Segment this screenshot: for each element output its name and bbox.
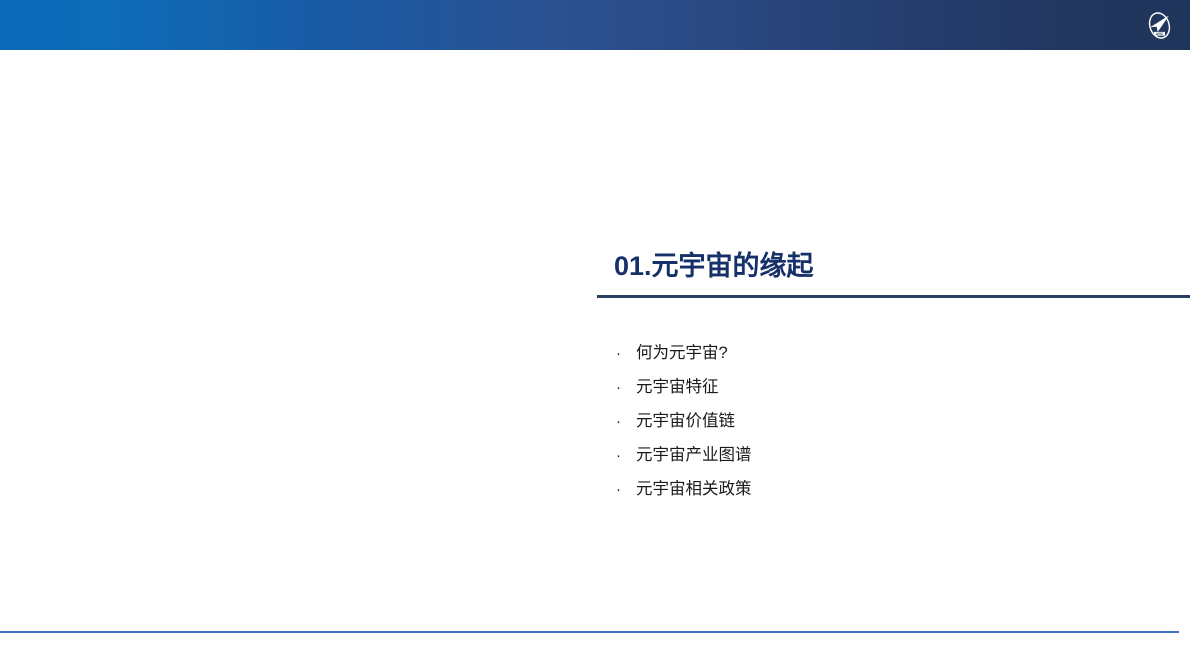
footer-divider: [0, 631, 1179, 633]
list-item-label: 元宇宙产业图谱: [636, 438, 752, 472]
title-block: 01.元宇宙的缘起: [597, 248, 1190, 284]
list-item-label: 元宇宙价值链: [636, 404, 735, 438]
list-item[interactable]: · 元宇宙相关政策: [616, 472, 752, 506]
header-band: AVIC: [0, 0, 1190, 50]
list-item-label: 元宇宙特征: [636, 370, 719, 404]
title-divider: [597, 295, 1190, 298]
agenda-list: · 何为元宇宙? · 元宇宙特征 · 元宇宙价值链 · 元宇宙产业图谱 · 元宇…: [616, 336, 752, 506]
svg-text:AVIC: AVIC: [1156, 32, 1164, 36]
list-item[interactable]: · 元宇宙价值链: [616, 404, 752, 438]
list-item[interactable]: · 元宇宙特征: [616, 370, 752, 404]
list-item-label: 何为元宇宙?: [636, 336, 728, 370]
avic-logo-icon: AVIC: [1145, 11, 1174, 40]
bullet-dot-icon: ·: [616, 439, 636, 473]
list-item-label: 元宇宙相关政策: [636, 472, 752, 506]
list-item[interactable]: · 何为元宇宙?: [616, 336, 752, 370]
page-title: 01.元宇宙的缘起: [597, 248, 1190, 284]
bullet-dot-icon: ·: [616, 371, 636, 405]
list-item[interactable]: · 元宇宙产业图谱: [616, 438, 752, 472]
bullet-dot-icon: ·: [616, 405, 636, 439]
slide-canvas: AVIC 01.元宇宙的缘起 · 何为元宇宙? · 元宇宙特征 · 元宇宙价值链…: [0, 0, 1190, 669]
bullet-dot-icon: ·: [616, 473, 636, 507]
bullet-dot-icon: ·: [616, 337, 636, 371]
